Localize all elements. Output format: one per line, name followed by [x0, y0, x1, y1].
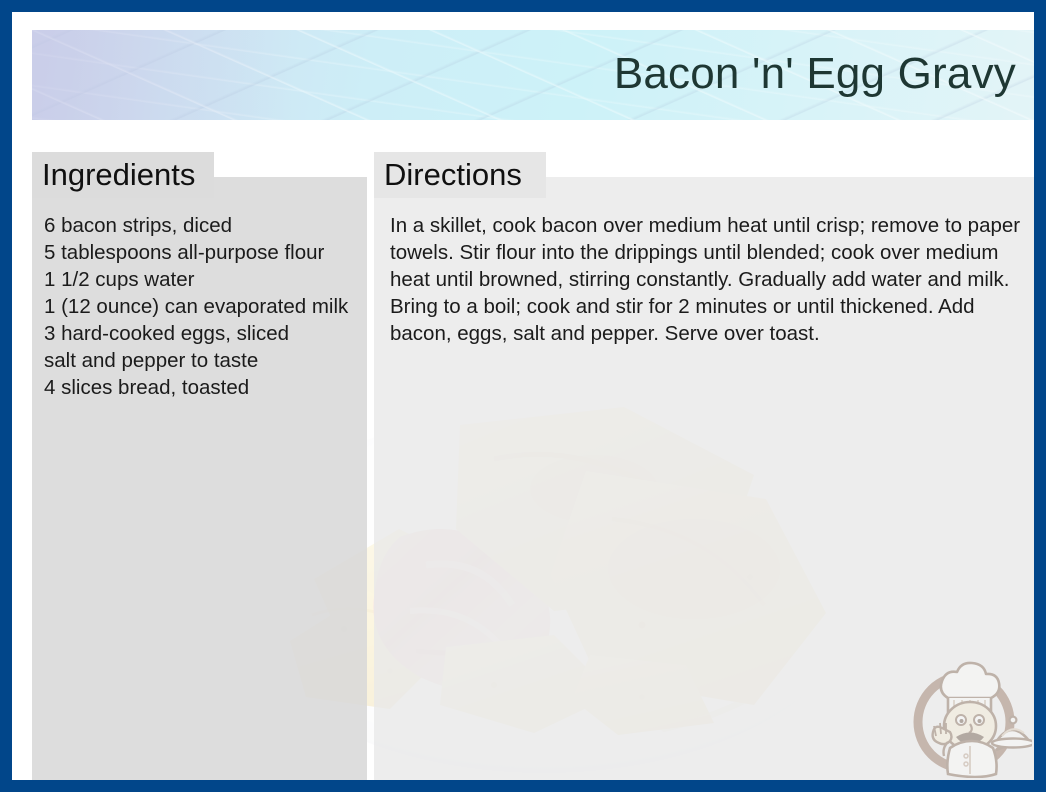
directions-heading: Directions	[374, 152, 546, 198]
list-item: 1 (12 ounce) can evaporated milk	[44, 293, 374, 320]
recipe-card: Bacon 'n' Egg Gravy	[0, 0, 1046, 792]
recipe-title: Bacon 'n' Egg Gravy	[614, 51, 1016, 97]
title-banner: Bacon 'n' Egg Gravy	[32, 30, 1036, 120]
list-item: 5 tablespoons all-purpose flour	[44, 239, 374, 266]
directions-body: In a skillet, cook bacon over medium hea…	[390, 212, 1040, 347]
list-item: 4 slices bread, toasted	[44, 374, 374, 401]
ingredients-list: 6 bacon strips, diced 5 tablespoons all-…	[44, 212, 374, 401]
chef-logo-icon	[904, 654, 1032, 778]
list-item: 6 bacon strips, diced	[44, 212, 374, 239]
list-item: 1 1/2 cups water	[44, 266, 374, 293]
list-item: salt and pepper to taste	[44, 347, 374, 374]
card-canvas: Bacon 'n' Egg Gravy	[24, 24, 1046, 792]
ingredients-heading: Ingredients	[32, 152, 214, 198]
banner-gradient-overlay	[32, 30, 292, 120]
list-item: 3 hard-cooked eggs, sliced	[44, 320, 374, 347]
